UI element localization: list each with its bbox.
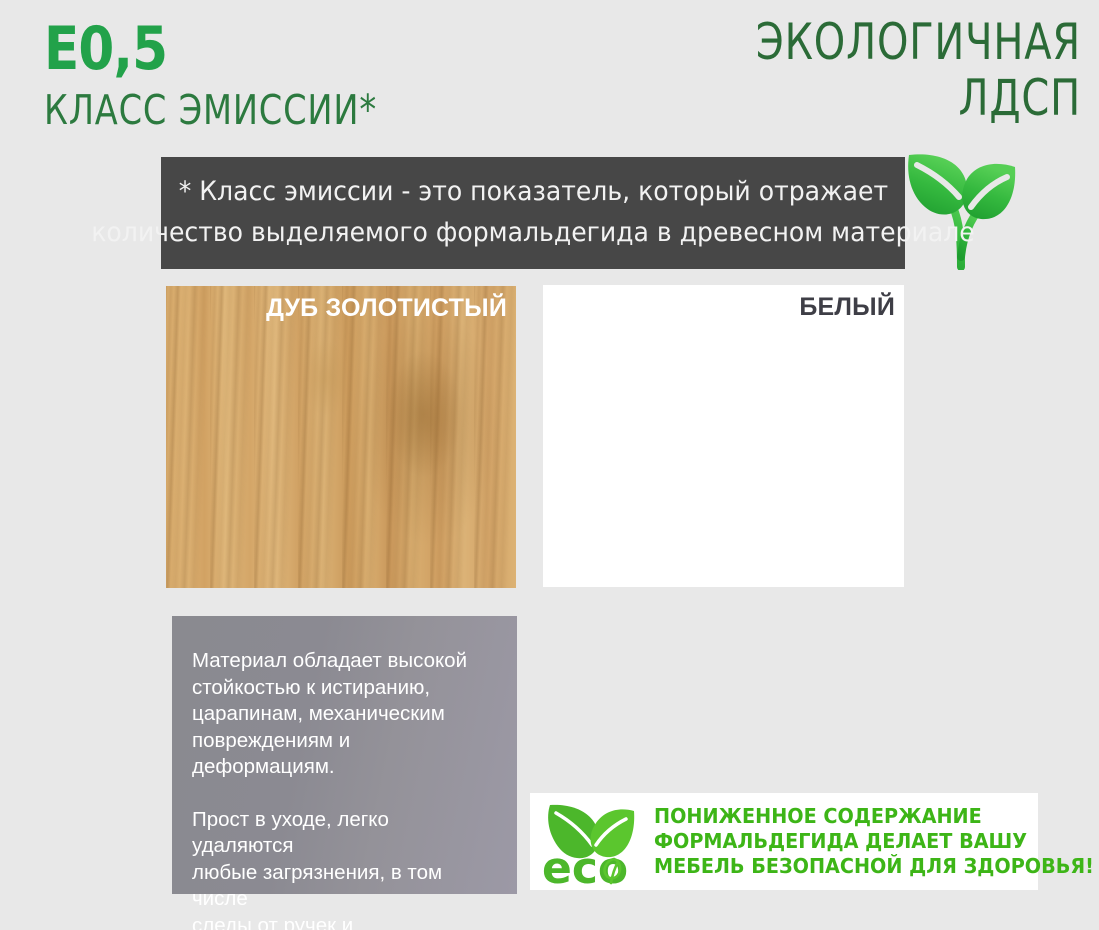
eco-safety-line-3: МЕБЕЛЬ БЕЗОПАСНОЙ ДЛЯ ЗДОРОВЬЯ!: [654, 854, 1094, 879]
color-swatch-white-label: БЕЛЫЙ: [799, 292, 895, 322]
color-swatch-white[interactable]: БЕЛЫЙ: [543, 285, 904, 587]
eco-title-line-1: ЭКОЛОГИЧНАЯ: [737, 14, 1081, 70]
emission-note-line-1: * Класс эмиссии - это показатель, которы…: [178, 171, 887, 212]
eco-leaf-logo: eco: [540, 799, 640, 885]
infographic-root: E0,5 КЛАСС ЭМИССИИ* ЭКОЛОГИЧНАЯ ЛДСП: [0, 0, 1099, 930]
eco-safety-line-1: ПОНИЖЕННОЕ СОДЕРЖАНИЕ: [654, 804, 1094, 829]
emission-note-banner: * Класс эмиссии - это показатель, которы…: [161, 157, 905, 269]
material-description-paragraph-2: Прост в уходе, легко удаляются любые заг…: [192, 807, 493, 930]
material-description-paragraph-1: Материал обладает высокой стойкостью к и…: [192, 648, 493, 781]
emission-class-code: E0,5: [44, 18, 448, 80]
eco-safety-banner: eco ПОНИЖЕННОЕ СОДЕРЖАНИЕ ФОРМАЛЬДЕГИДА …: [530, 793, 1038, 890]
material-description-box: Материал обладает высокой стойкостью к и…: [172, 616, 517, 894]
color-swatch-oak-label: ДУБ ЗОЛОТИСТЫЙ: [266, 293, 507, 323]
eco-safety-line-2: ФОРМАЛЬДЕГИДА ДЕЛАЕТ ВАШУ: [654, 829, 1094, 854]
eco-title-block: ЭКОЛОГИЧНАЯ ЛДСП: [651, 14, 1081, 126]
eco-safety-banner-text: ПОНИЖЕННОЕ СОДЕРЖАНИЕ ФОРМАЛЬДЕГИДА ДЕЛА…: [654, 804, 1099, 879]
emission-class-block: E0,5 КЛАСС ЭМИССИИ*: [44, 18, 514, 132]
emission-note-line-2: количество выделяемого формальдегида в д…: [91, 212, 974, 253]
emission-class-label: КЛАСС ЭМИССИИ*: [44, 88, 429, 132]
color-swatch-oak[interactable]: ДУБ ЗОЛОТИСТЫЙ: [166, 286, 516, 588]
eco-title-line-2: ЛДСП: [737, 70, 1081, 126]
